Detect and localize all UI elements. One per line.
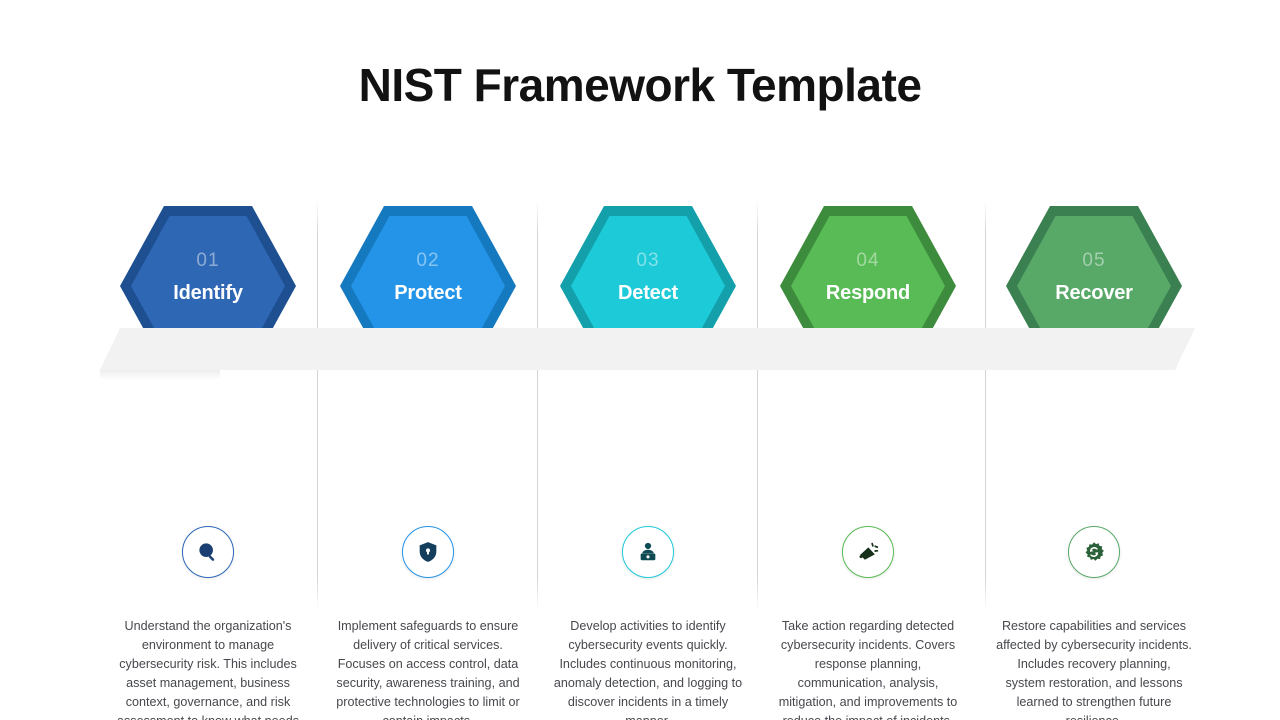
step-label: Recover (1006, 282, 1182, 305)
megaphone-icon (857, 541, 879, 563)
step-number: 05 (1006, 250, 1182, 272)
step-label: Respond (780, 282, 956, 305)
step-description: Understand the organization's environmen… (110, 617, 306, 720)
step-number: 03 (560, 250, 736, 272)
slide-canvas: NIST Framework Template 01IdentifyUnders… (0, 0, 1280, 720)
step-label: Detect (560, 282, 736, 305)
shield-lock-icon-circle[interactable] (402, 526, 454, 578)
step-description: Take action regarding detected cybersecu… (770, 617, 966, 720)
megaphone-icon-circle[interactable] (842, 526, 894, 578)
step-description: Implement safeguards to ensure delivery … (330, 617, 526, 720)
magnifier-icon (197, 541, 219, 563)
step-number: 02 (340, 250, 516, 272)
person-monitor-icon (637, 541, 659, 563)
gear-refresh-icon-circle[interactable] (1068, 526, 1120, 578)
person-monitor-icon-circle[interactable] (622, 526, 674, 578)
step-label: Protect (340, 282, 516, 305)
gear-refresh-icon (1083, 541, 1105, 563)
shield-lock-icon (418, 541, 438, 563)
step-number: 04 (780, 250, 956, 272)
step-label: Identify (120, 282, 296, 305)
magnifier-icon-circle[interactable] (182, 526, 234, 578)
step-description: Restore capabilities and services affect… (996, 617, 1192, 720)
timeline-ribbon (100, 328, 1195, 370)
step-number: 01 (120, 250, 296, 272)
step-description: Develop activities to identify cybersecu… (550, 617, 746, 720)
ribbon-shadow (100, 370, 220, 380)
page-title: NIST Framework Template (0, 58, 1280, 112)
